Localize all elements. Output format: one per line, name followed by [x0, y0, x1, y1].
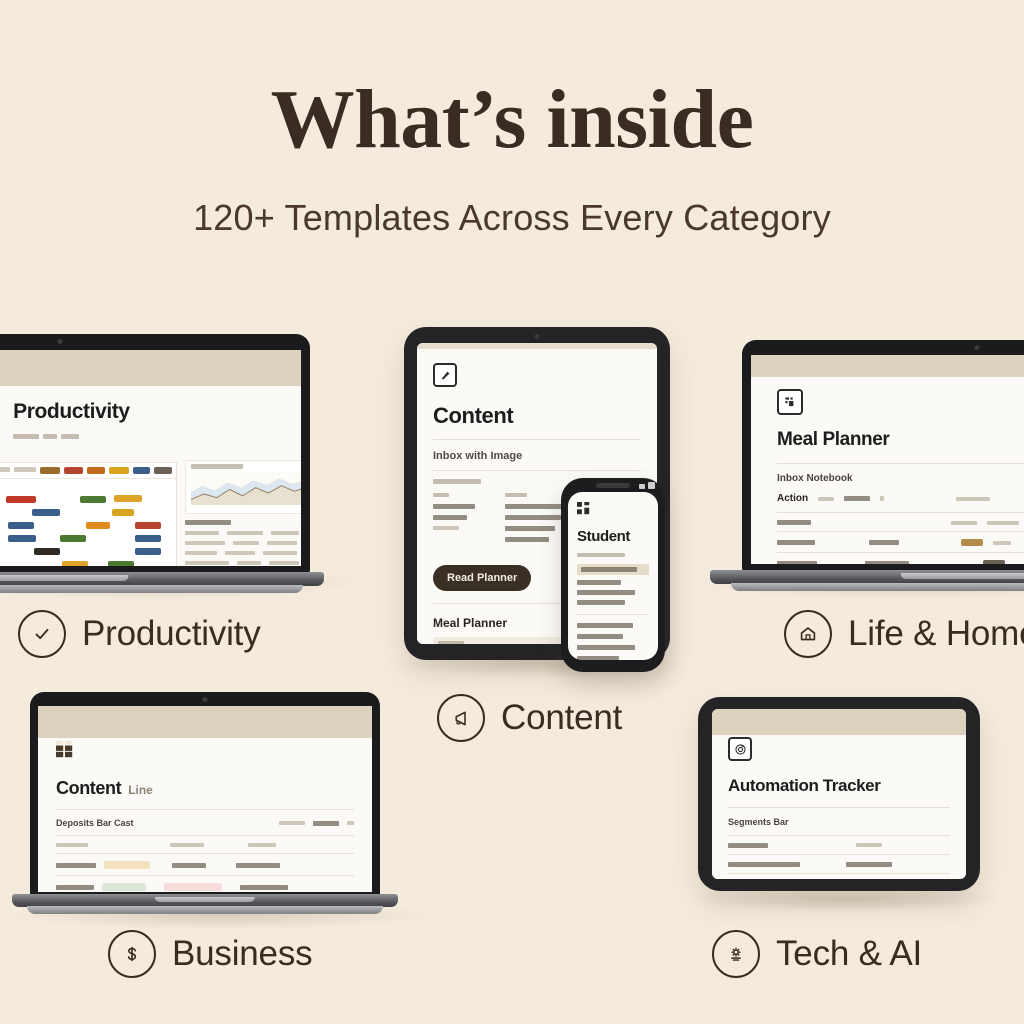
category-label: Business	[172, 934, 312, 974]
device-laptop-productivity: Productivity	[0, 334, 310, 574]
category-productivity[interactable]: Productivity	[18, 610, 261, 658]
doc-cover-band	[0, 350, 301, 386]
dollar-glyph	[121, 943, 143, 965]
read-planner-label: Read Planner	[447, 572, 517, 584]
category-label: Productivity	[82, 614, 261, 654]
laptop-screen: Productivity	[0, 350, 301, 566]
calendar-glyph	[784, 396, 797, 409]
tablet-screen: Automation Tracker Segments Bar	[712, 709, 966, 879]
tablet-camera-icon	[535, 334, 540, 339]
category-life-home[interactable]: Life & Home	[784, 610, 1024, 658]
gear-glyph	[725, 943, 747, 965]
category-content[interactable]: Content	[437, 694, 622, 742]
doc-content: Productivity	[0, 386, 301, 566]
doc-content: Automation Tracker Segments Bar	[712, 735, 966, 879]
spiral-glyph	[734, 743, 747, 756]
laptop-base	[12, 894, 398, 907]
doc-subtitle: Inbox with Image	[433, 450, 641, 462]
area-chart-icon	[191, 472, 301, 505]
doc-productivity: Productivity	[0, 350, 301, 566]
laptop-lip	[731, 583, 1024, 591]
doc-subtitle: Segments Bar	[728, 817, 950, 827]
read-planner-button[interactable]: Read Planner	[433, 565, 531, 591]
laptop-base	[710, 570, 1024, 584]
device-laptop-meal: Meal Planner Inbox Notebook Action	[742, 340, 1024, 572]
productivity-table	[0, 462, 177, 566]
check-glyph	[31, 623, 53, 645]
laptop-screen: Content Line Deposits Bar Cast	[38, 706, 372, 892]
category-label: Content	[501, 698, 622, 738]
doc-meal-planner: Meal Planner Inbox Notebook Action	[751, 355, 1024, 564]
category-label: Life & Home	[848, 614, 1024, 654]
chip-gear-icon	[712, 930, 760, 978]
poster-canvas: What’s inside 120+ Templates Across Ever…	[0, 0, 1024, 1024]
device-phone-student: Student	[561, 478, 665, 672]
laptop-lid: Productivity	[0, 334, 310, 574]
grid-icon	[56, 741, 74, 759]
category-tech-ai[interactable]: Tech & AI	[712, 930, 922, 978]
webcam-icon	[975, 345, 980, 350]
category-label: Tech & AI	[776, 934, 922, 974]
doc-cover-band	[751, 355, 1024, 377]
doc-title: Student	[577, 528, 649, 545]
productivity-chart-card	[185, 460, 301, 514]
device-tablet-automation: Automation Tracker Segments Bar	[698, 697, 980, 891]
phone-status-icons	[639, 482, 655, 489]
home-icon	[784, 610, 832, 658]
doc-content: Meal Planner Inbox Notebook Action	[751, 377, 1024, 564]
megaphone-icon	[437, 694, 485, 742]
doc-title: Productivity	[13, 400, 282, 424]
device-laptop-content: Content Line Deposits Bar Cast	[30, 692, 380, 900]
laptop-lid: Content Line Deposits Bar Cast	[30, 692, 380, 900]
doc-title: Content	[433, 403, 641, 429]
laptop-base	[0, 572, 324, 586]
doc-title: Meal Planner	[777, 429, 1024, 451]
home-glyph	[797, 623, 819, 645]
megaphone-glyph	[451, 708, 472, 729]
category-business[interactable]: Business	[108, 930, 312, 978]
doc-toolbar-label: Action	[777, 493, 808, 504]
doc-cover-band	[712, 709, 966, 735]
laptop-screen: Meal Planner Inbox Notebook Action	[751, 355, 1024, 564]
page-subtitle: 120+ Templates Across Every Category	[0, 196, 1024, 239]
pen-icon	[433, 363, 457, 387]
doc-title: Automation Tracker	[728, 776, 950, 796]
doc-title: Content	[56, 778, 121, 799]
webcam-icon	[203, 697, 208, 702]
webcam-icon	[58, 339, 63, 344]
laptop-lip	[27, 906, 382, 914]
grid-icon	[577, 502, 590, 515]
dollar-icon	[108, 930, 156, 978]
check-circle-icon	[18, 610, 66, 658]
doc-content-laptop: Content Line Deposits Bar Cast	[38, 706, 372, 892]
spiral-icon	[728, 737, 752, 761]
doc-subtitle: Inbox Notebook	[777, 473, 1024, 484]
doc-automation: Automation Tracker Segments Bar	[712, 709, 966, 879]
laptop-lid: Meal Planner Inbox Notebook Action	[742, 340, 1024, 572]
phone-screen: Student	[568, 492, 658, 660]
doc-subtitle: Deposits Bar Cast	[56, 818, 134, 828]
page-title: What’s inside	[0, 78, 1024, 162]
doc-content: Content Line Deposits Bar Cast	[38, 738, 372, 892]
doc-content: Student	[568, 492, 658, 660]
doc-cover-band	[38, 706, 372, 738]
productivity-list-card	[185, 520, 301, 566]
calendar-icon	[777, 389, 803, 415]
phone-notch	[596, 483, 630, 488]
doc-title-suffix: Line	[128, 783, 153, 797]
laptop-lip	[0, 585, 303, 593]
pen-glyph	[439, 369, 452, 382]
